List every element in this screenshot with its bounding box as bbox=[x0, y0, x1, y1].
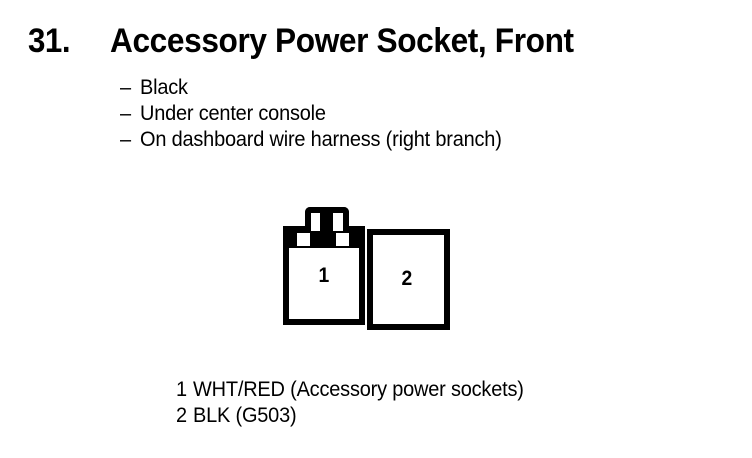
cavity-1-number: 1 bbox=[318, 265, 329, 286]
description-label: On dashboard wire harness (right branch) bbox=[140, 128, 502, 152]
item-number: 31. bbox=[28, 22, 70, 61]
latch-notch-right-icon bbox=[336, 233, 349, 246]
pin-number: 1 bbox=[176, 378, 192, 402]
pin-description: BLK (G503) bbox=[193, 404, 296, 428]
connector-diagram: 1 2 bbox=[278, 203, 458, 335]
pin-legend-row: 1 WHT/RED (Accessory power sockets) bbox=[176, 378, 541, 404]
pin-description: WHT/RED (Accessory power sockets) bbox=[193, 378, 524, 402]
cavity-2-number: 2 bbox=[401, 268, 412, 289]
pin-legend: 1 WHT/RED (Accessory power sockets) 2 BL… bbox=[176, 378, 541, 430]
dash-icon: – bbox=[120, 128, 139, 152]
locking-tab-post-icon bbox=[320, 211, 333, 245]
description-item: – On dashboard wire harness (right branc… bbox=[120, 128, 521, 154]
pin-number: 2 bbox=[176, 404, 192, 428]
description-item: – Black bbox=[120, 76, 521, 102]
pin-legend-row: 2 BLK (G503) bbox=[176, 404, 541, 430]
description-item: – Under center console bbox=[120, 102, 521, 128]
description-list: – Black – Under center console – On dash… bbox=[120, 76, 521, 154]
dash-icon: – bbox=[120, 102, 139, 126]
latch-notch-left-icon bbox=[297, 233, 310, 246]
description-label: Under center console bbox=[140, 102, 326, 126]
page-title: 31. Accessory Power Socket, Front bbox=[28, 22, 608, 61]
wiring-diagram-page: 31. Accessory Power Socket, Front – Blac… bbox=[0, 0, 752, 458]
dash-icon: – bbox=[120, 76, 139, 100]
connector-title: Accessory Power Socket, Front bbox=[110, 22, 574, 61]
description-label: Black bbox=[140, 76, 188, 100]
